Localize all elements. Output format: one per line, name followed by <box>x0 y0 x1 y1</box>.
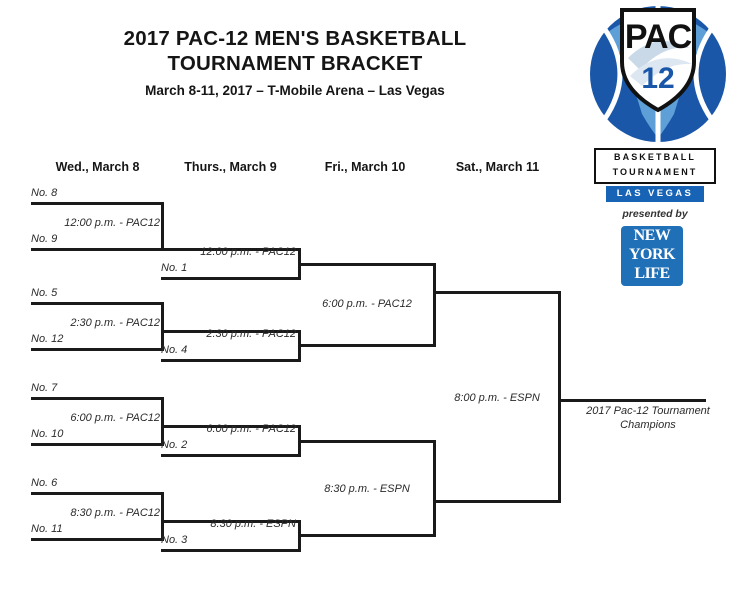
svg-text:PAC: PAC <box>625 18 692 56</box>
page-subtitle: March 8-11, 2017 – T-Mobile Arena – Las … <box>60 83 530 98</box>
bracket-line-r1g1-bottom <box>31 248 164 251</box>
seed-label-r1g1-top: No. 8 <box>31 187 57 199</box>
bracket-line-r2g1-bottom <box>161 277 301 280</box>
bracket-line-r3g2-top <box>298 440 436 443</box>
bracket-connector-r1g1 <box>161 202 164 251</box>
bracket-line-r1g3-top <box>31 397 164 400</box>
bracket-line-r1g4-bottom <box>31 538 164 541</box>
bracket-line-r2g2-bottom <box>161 359 301 362</box>
round-header-saturday: Sat., March 11 <box>430 160 565 174</box>
bracket-line-r1g2-top <box>31 302 164 305</box>
seed-label-r1g2-top: No. 5 <box>31 287 57 299</box>
game-label-r3g1[interactable]: 6:00 p.m. - PAC12 <box>303 298 431 310</box>
seed-label-r1g2-bottom: No. 12 <box>31 333 63 345</box>
game-label-r3g2[interactable]: 8:30 p.m. - ESPN <box>303 483 431 495</box>
bracket-line-r1g2-bottom <box>31 348 164 351</box>
game-label-r2g3[interactable]: 6:00 p.m. - PAC12 <box>166 423 296 435</box>
game-label-championship[interactable]: 8:00 p.m. - ESPN <box>438 392 556 404</box>
seed-label-r2g2: No. 4 <box>161 344 187 356</box>
logo-basketball-text: BASKETBALL <box>596 150 714 165</box>
game-label-r1g3[interactable]: 6:00 p.m. - PAC12 <box>36 412 160 424</box>
logo-text-box: BASKETBALL TOURNAMENT <box>594 148 716 184</box>
bracket-line-r1g3-bottom <box>31 443 164 446</box>
seed-label-r1g1-bottom: No. 9 <box>31 233 57 245</box>
bracket-line-r3g1-bottom <box>298 344 436 347</box>
round-header-thursday: Thurs., March 9 <box>163 160 298 174</box>
seed-label-r2g4: No. 3 <box>161 534 187 546</box>
bracket-connector-r3g1 <box>433 263 436 347</box>
basketball-graphic: PAC 12 <box>578 4 738 144</box>
game-label-r1g1[interactable]: 12:00 p.m. - PAC12 <box>36 217 160 229</box>
bracket-line-r3g2-bottom <box>298 534 436 537</box>
bracket-line-r2g3-bottom <box>161 454 301 457</box>
game-label-r1g4[interactable]: 8:30 p.m. - PAC12 <box>36 507 160 519</box>
new-york-life-logo: NEW YORK LIFE <box>621 226 683 286</box>
game-label-r2g1[interactable]: 12:00 p.m. - PAC12 <box>166 246 296 258</box>
round-header-friday: Fri., March 10 <box>300 160 430 174</box>
seed-label-r2g1: No. 1 <box>161 262 187 274</box>
sponsor-line-new: NEW <box>621 226 683 245</box>
title-block: 2017 PAC-12 MEN'S BASKETBALL TOURNAMENT … <box>60 26 530 98</box>
bracket-line-r4-top <box>433 291 561 294</box>
seed-label-r1g3-bottom: No. 10 <box>31 428 63 440</box>
logo-lasvegas-banner: LAS VEGAS <box>606 186 704 202</box>
pac12-shield-icon: PAC 12 <box>578 4 738 144</box>
round-header-wednesday: Wed., March 8 <box>30 160 165 174</box>
game-label-r1g2[interactable]: 2:30 p.m. - PAC12 <box>36 317 160 329</box>
bracket-line-r1g1-top <box>31 202 164 205</box>
seed-label-r1g4-top: No. 6 <box>31 477 57 489</box>
page-title-line1: 2017 PAC-12 MEN'S BASKETBALL <box>60 26 530 51</box>
champion-label: 2017 Pac-12 Tournament Champions <box>563 404 733 432</box>
bracket-connector-r3g2 <box>433 440 436 537</box>
pac12-tournament-logo: PAC 12 BASKETBALL TOURNAMENT LAS VEGAS p… <box>572 4 744 286</box>
page-title-line2: TOURNAMENT BRACKET <box>60 51 530 76</box>
game-label-r2g2[interactable]: 2:30 p.m. - PAC12 <box>166 328 296 340</box>
presented-by-label: presented by <box>594 208 716 220</box>
logo-tournament-text: TOURNAMENT <box>596 165 714 180</box>
sponsor-line-york: YORK <box>621 245 683 264</box>
bracket-line-r1g4-top <box>31 492 164 495</box>
seed-label-r1g3-top: No. 7 <box>31 382 57 394</box>
bracket-line-champion <box>558 399 706 402</box>
bracket-line-r4-bottom <box>433 500 561 503</box>
seed-label-r1g4-bottom: No. 11 <box>31 523 63 535</box>
game-label-r2g4[interactable]: 8:30 p.m. - ESPN <box>166 518 296 530</box>
bracket-line-r3g1-top <box>298 263 436 266</box>
bracket-connector-championship <box>558 291 561 503</box>
seed-label-r2g3: No. 2 <box>161 439 187 451</box>
bracket-line-r2g4-bottom <box>161 549 301 552</box>
svg-text:12: 12 <box>641 62 674 95</box>
sponsor-line-life: LIFE <box>621 264 683 283</box>
